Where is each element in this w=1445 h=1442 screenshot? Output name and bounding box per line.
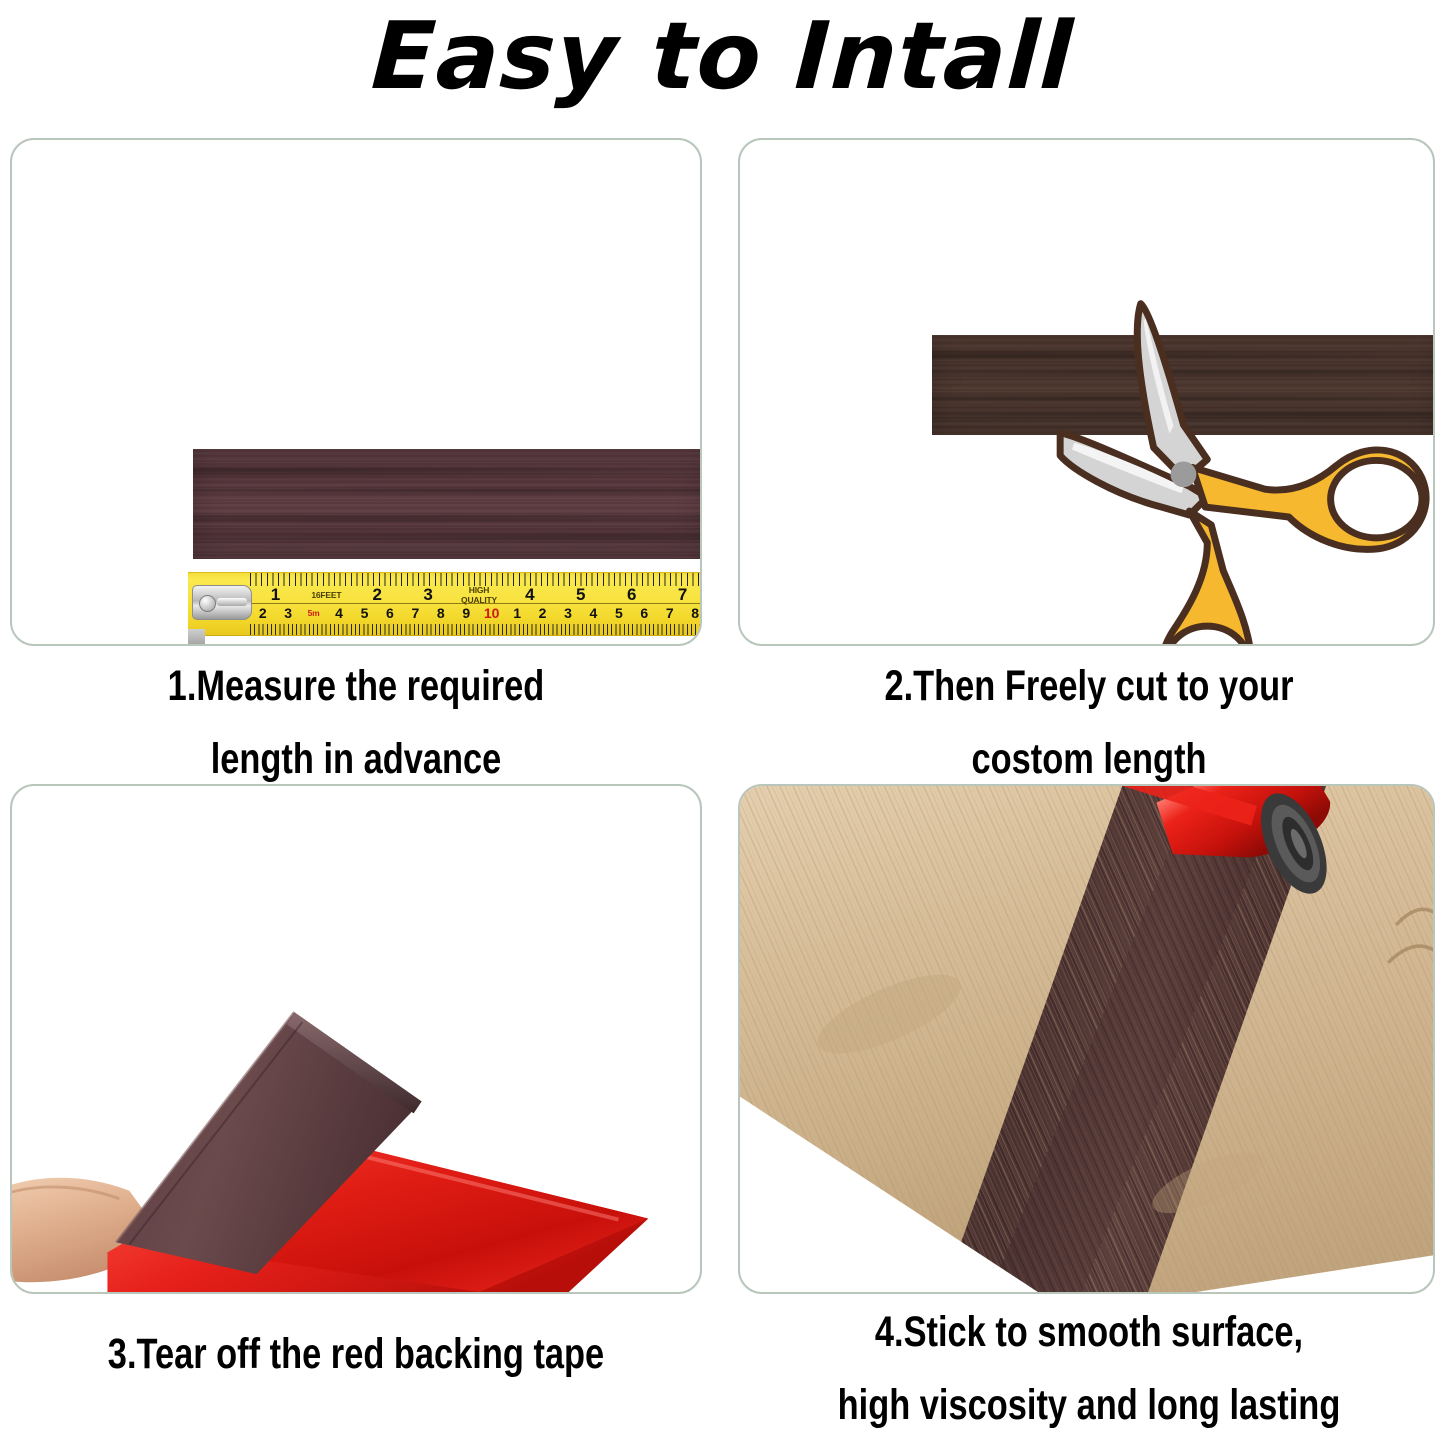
tape-inch-6: 6	[606, 585, 657, 605]
step-1-caption: 1.Measure the required length in advance	[71, 650, 641, 796]
page-title: Easy to Intall	[0, 0, 1445, 116]
tape-cm-12: 2	[530, 605, 555, 621]
stick-to-surface-illustration	[740, 786, 1433, 1292]
step-2-caption: 2.Then Freely cut to your costom length	[804, 650, 1374, 796]
scissors-ring-right	[1331, 460, 1422, 537]
peel-backing-tape-illustration	[12, 786, 700, 1292]
tape-cm-17: 7	[657, 605, 682, 621]
tape-cm-15: 5	[606, 605, 631, 621]
tape-cm-scale: 2 3 5m 4 5 6 7 8 9 10 1 2 3 4 5 6 7 8	[250, 604, 702, 622]
tape-cm-6: 6	[377, 605, 402, 621]
stick-panel	[738, 784, 1435, 1294]
tape-major-ticks	[250, 573, 702, 581]
step-4-caption: 4.Stick to smooth surface, high viscosit…	[804, 1296, 1374, 1442]
tape-fine-ticks-bottom	[250, 624, 702, 635]
step-4-caption-line-2: high viscosity and long lasting	[804, 1369, 1374, 1442]
measure-panel: 1 16FEET 2 3 HIGH QUALITY 4 5 6 7 2 3 5m…	[10, 138, 702, 646]
tape-inch-1: 1	[250, 585, 301, 605]
scissors-icon	[740, 140, 1433, 644]
peel-panel	[10, 784, 702, 1294]
scissors-pivot-icon	[1171, 461, 1197, 487]
oak-floor-board	[740, 786, 1433, 1292]
tape-cm-9: 9	[454, 605, 479, 621]
tape-inch-2: 2	[352, 585, 403, 605]
step-3-caption: 3.Tear off the red backing tape	[71, 1318, 641, 1391]
tape-inch-3: 3	[403, 585, 454, 605]
tape-inch-5: 5	[555, 585, 606, 605]
tape-cm-8: 8	[428, 605, 453, 621]
tape-cm-4: 4	[326, 605, 351, 621]
tape-cm-11: 1	[504, 605, 529, 621]
step-1-caption-line-2: length in advance	[71, 723, 641, 796]
step-2-caption-line-2: costom length	[804, 723, 1374, 796]
tape-measure-hook-icon	[192, 585, 252, 620]
step-2-caption-line-1: 2.Then Freely cut to your	[804, 650, 1374, 723]
wood-grain-strip-image	[193, 449, 702, 559]
tape-brand-left: 16FEET	[301, 590, 352, 600]
tape-measure-image: 1 16FEET 2 3 HIGH QUALITY 4 5 6 7 2 3 5m…	[188, 572, 702, 636]
tape-cm-7: 7	[403, 605, 428, 621]
tape-brand-right: HIGH QUALITY	[454, 585, 505, 605]
step-3-caption-line-1: 3.Tear off the red backing tape	[71, 1318, 641, 1391]
step-1-caption-line-1: 1.Measure the required	[71, 650, 641, 723]
cut-panel	[738, 138, 1435, 646]
tape-cm-18: 8	[682, 605, 702, 621]
tape-cm-16: 6	[632, 605, 657, 621]
tape-cm-3: 3	[275, 605, 300, 621]
tape-cm-13: 3	[555, 605, 580, 621]
tape-inch-7: 7	[657, 585, 702, 605]
step-4-caption-line-1: 4.Stick to smooth surface,	[804, 1296, 1374, 1369]
tape-measure-end-lip	[188, 629, 205, 646]
tape-inch-4: 4	[504, 585, 555, 605]
tape-inch-scale: 1 16FEET 2 3 HIGH QUALITY 4 5 6 7	[250, 585, 702, 604]
tape-cm-14: 4	[581, 605, 606, 621]
tape-cm-2: 2	[250, 605, 275, 621]
tape-cm-10: 10	[479, 605, 504, 621]
tape-metric-label: 5m	[301, 608, 326, 618]
tape-cm-5: 5	[352, 605, 377, 621]
